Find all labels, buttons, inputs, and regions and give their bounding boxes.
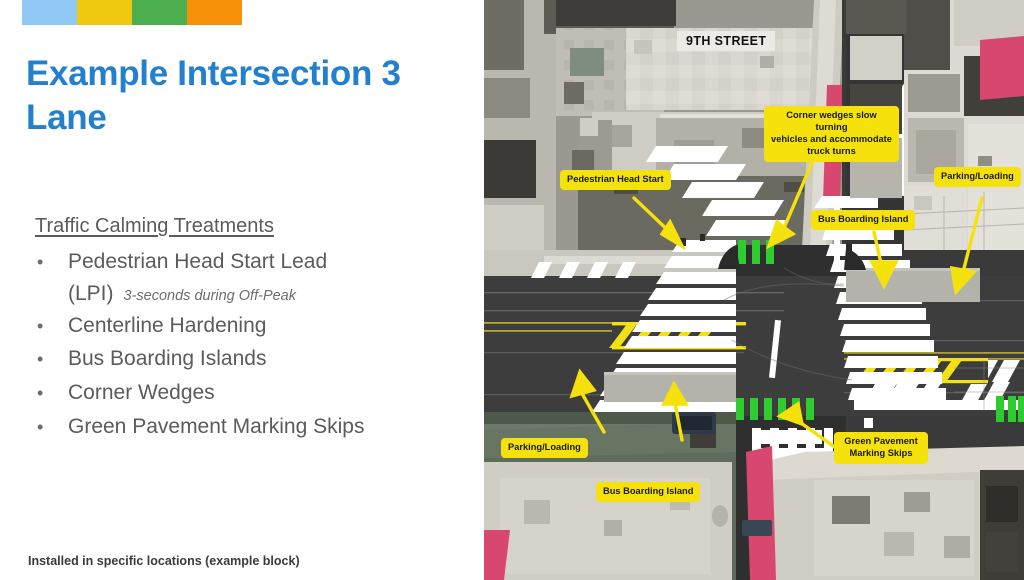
callout-bus-boarding-island-lower[interactable]: Bus Boarding Island <box>596 482 700 502</box>
callout-corner-wedges[interactable]: Corner wedges slow turning vehicles and … <box>764 106 899 162</box>
lpi-note: 3-seconds during Off-Peak <box>124 288 296 304</box>
list-item-label: Green Pavement Marking Skips <box>68 413 364 441</box>
page-title: Example Intersection 3 Lane <box>26 52 446 141</box>
list-item-label: Corner Wedges <box>68 379 215 407</box>
bullet-dot-icon: • <box>30 316 68 337</box>
street-name-label: 9TH STREET <box>677 31 775 51</box>
list-item: • Pedestrian Head Start Lead <box>30 248 470 276</box>
list-item-label: Centerline Hardening <box>68 312 266 340</box>
color-bar-segment-light-blue <box>22 0 77 25</box>
bullet-dot-icon: • <box>30 383 68 404</box>
callout-green-pavement-marking-skips[interactable]: Green Pavement Marking Skips <box>834 432 928 464</box>
list-item-label: Pedestrian Head Start Lead <box>68 248 327 276</box>
list-item: • Green Pavement Marking Skips <box>30 413 470 441</box>
color-bar-segment-gold <box>77 0 132 25</box>
color-bar-segment-green <box>132 0 187 25</box>
list-item: • Corner Wedges <box>30 379 470 407</box>
list-item-lpi-detail: (LPI) 3-seconds during Off-Peak <box>30 282 470 306</box>
left-content-panel: Example Intersection 3 Lane Traffic Calm… <box>0 0 484 580</box>
section-subtitle: Traffic Calming Treatments <box>35 215 274 238</box>
slide-canvas: Example Intersection 3 Lane Traffic Calm… <box>0 0 1024 580</box>
list-item: • Bus Boarding Islands <box>30 345 470 373</box>
aerial-map-svg <box>484 0 1024 580</box>
footnote-text: Installed in specific locations (example… <box>28 554 300 568</box>
brand-color-bar <box>22 0 242 25</box>
bus-boarding-island-upper-shape <box>846 268 980 302</box>
bullet-dot-icon: • <box>30 417 68 438</box>
callout-pedestrian-head-start[interactable]: Pedestrian Head Start <box>560 170 671 190</box>
bullet-dot-icon: • <box>30 349 68 370</box>
callout-bus-boarding-island-upper[interactable]: Bus Boarding Island <box>811 210 915 230</box>
bullet-dot-icon: • <box>30 252 68 273</box>
list-item-label: Bus Boarding Islands <box>68 345 266 373</box>
list-item: • Centerline Hardening <box>30 312 470 340</box>
lpi-abbreviation: (LPI) <box>68 282 114 306</box>
bus-boarding-island-lower-shape <box>604 372 736 402</box>
callout-parking-loading-lower[interactable]: Parking/Loading <box>501 438 588 458</box>
green-pavement-skips-east <box>996 396 1024 422</box>
aerial-intersection-diagram: 9TH STREET Corner wedges slow turning ve… <box>484 0 1024 580</box>
green-pavement-skips-north <box>738 240 774 264</box>
color-bar-segment-orange <box>187 0 242 25</box>
callout-parking-loading-upper[interactable]: Parking/Loading <box>934 167 1021 187</box>
treatments-list: • Pedestrian Head Start Lead (LPI) 3-sec… <box>30 248 470 447</box>
